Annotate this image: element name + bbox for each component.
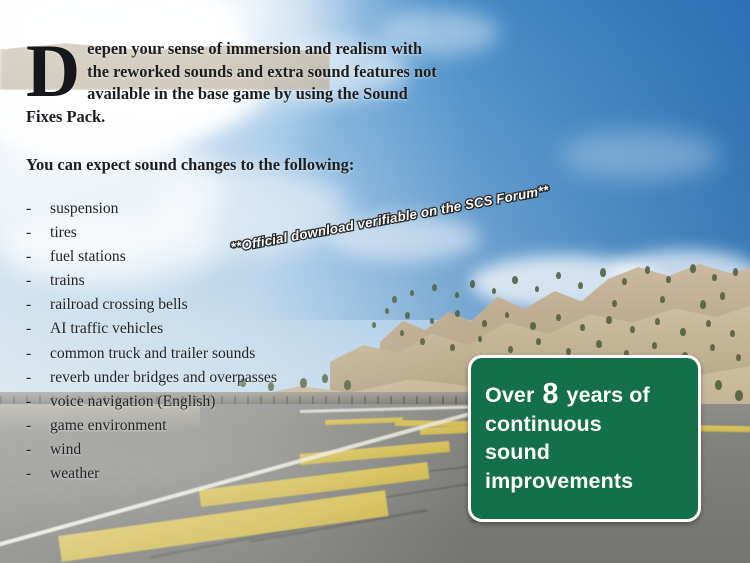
feature-list-item: -game environment <box>26 417 277 441</box>
list-bullet: - <box>26 345 50 363</box>
feature-label: railroad crossing bells <box>50 296 188 314</box>
sign-line2: continuous <box>485 412 602 436</box>
sign-line1-after: years of <box>560 383 649 407</box>
promotional-image: D eepen your sense of immersion and real… <box>0 0 750 563</box>
feature-label: trains <box>50 272 85 290</box>
feature-label: fuel stations <box>50 248 126 266</box>
intro-text: eepen your sense of immersion and realis… <box>26 39 437 126</box>
list-bullet: - <box>26 296 50 314</box>
feature-label: AI traffic vehicles <box>50 320 163 338</box>
sign-line4: improvements <box>485 469 633 493</box>
feature-list-item: -suspension <box>26 200 277 224</box>
feature-list-item: -trains <box>26 272 277 296</box>
intro-paragraph: D eepen your sense of immersion and real… <box>26 38 446 129</box>
feature-label: suspension <box>50 200 118 218</box>
feature-list-item: -common truck and trailer sounds <box>26 345 277 369</box>
expect-heading: You can expect sound changes to the foll… <box>26 155 354 175</box>
feature-label: game environment <box>50 417 166 435</box>
list-bullet: - <box>26 369 50 387</box>
feature-label: tires <box>50 224 77 242</box>
list-bullet: - <box>26 465 50 483</box>
feature-label: reverb under bridges and overpasses <box>50 369 277 387</box>
list-bullet: - <box>26 417 50 435</box>
list-bullet: - <box>26 393 50 411</box>
official-download-banner: **Official download verifiable on the SC… <box>230 182 550 254</box>
list-bullet: - <box>26 320 50 338</box>
list-bullet: - <box>26 224 50 242</box>
sign-line1-before: Over <box>485 383 540 407</box>
feature-label: voice navigation (English) <box>50 393 215 411</box>
feature-list-item: -AI traffic vehicles <box>26 320 277 344</box>
list-bullet: - <box>26 248 50 266</box>
feature-label: wind <box>50 441 81 459</box>
feature-list-item: -railroad crossing bells <box>26 296 277 320</box>
feature-label: common truck and trailer sounds <box>50 345 255 363</box>
sign-line3: sound <box>485 440 550 464</box>
list-bullet: - <box>26 441 50 459</box>
feature-list-item: -reverb under bridges and overpasses <box>26 369 277 393</box>
feature-list-item: -weather <box>26 465 277 489</box>
list-bullet: - <box>26 200 50 218</box>
feature-label: weather <box>50 465 99 483</box>
sign-year-number: 8 <box>540 378 560 410</box>
highway-sign: Over 8 years of continuous sound improve… <box>468 355 701 522</box>
feature-list-item: -voice navigation (English) <box>26 393 277 417</box>
list-bullet: - <box>26 272 50 290</box>
feature-list-item: -wind <box>26 441 277 465</box>
drop-cap-letter: D <box>26 40 80 103</box>
highway-sign-text: Over 8 years of continuous sound improve… <box>485 380 688 495</box>
